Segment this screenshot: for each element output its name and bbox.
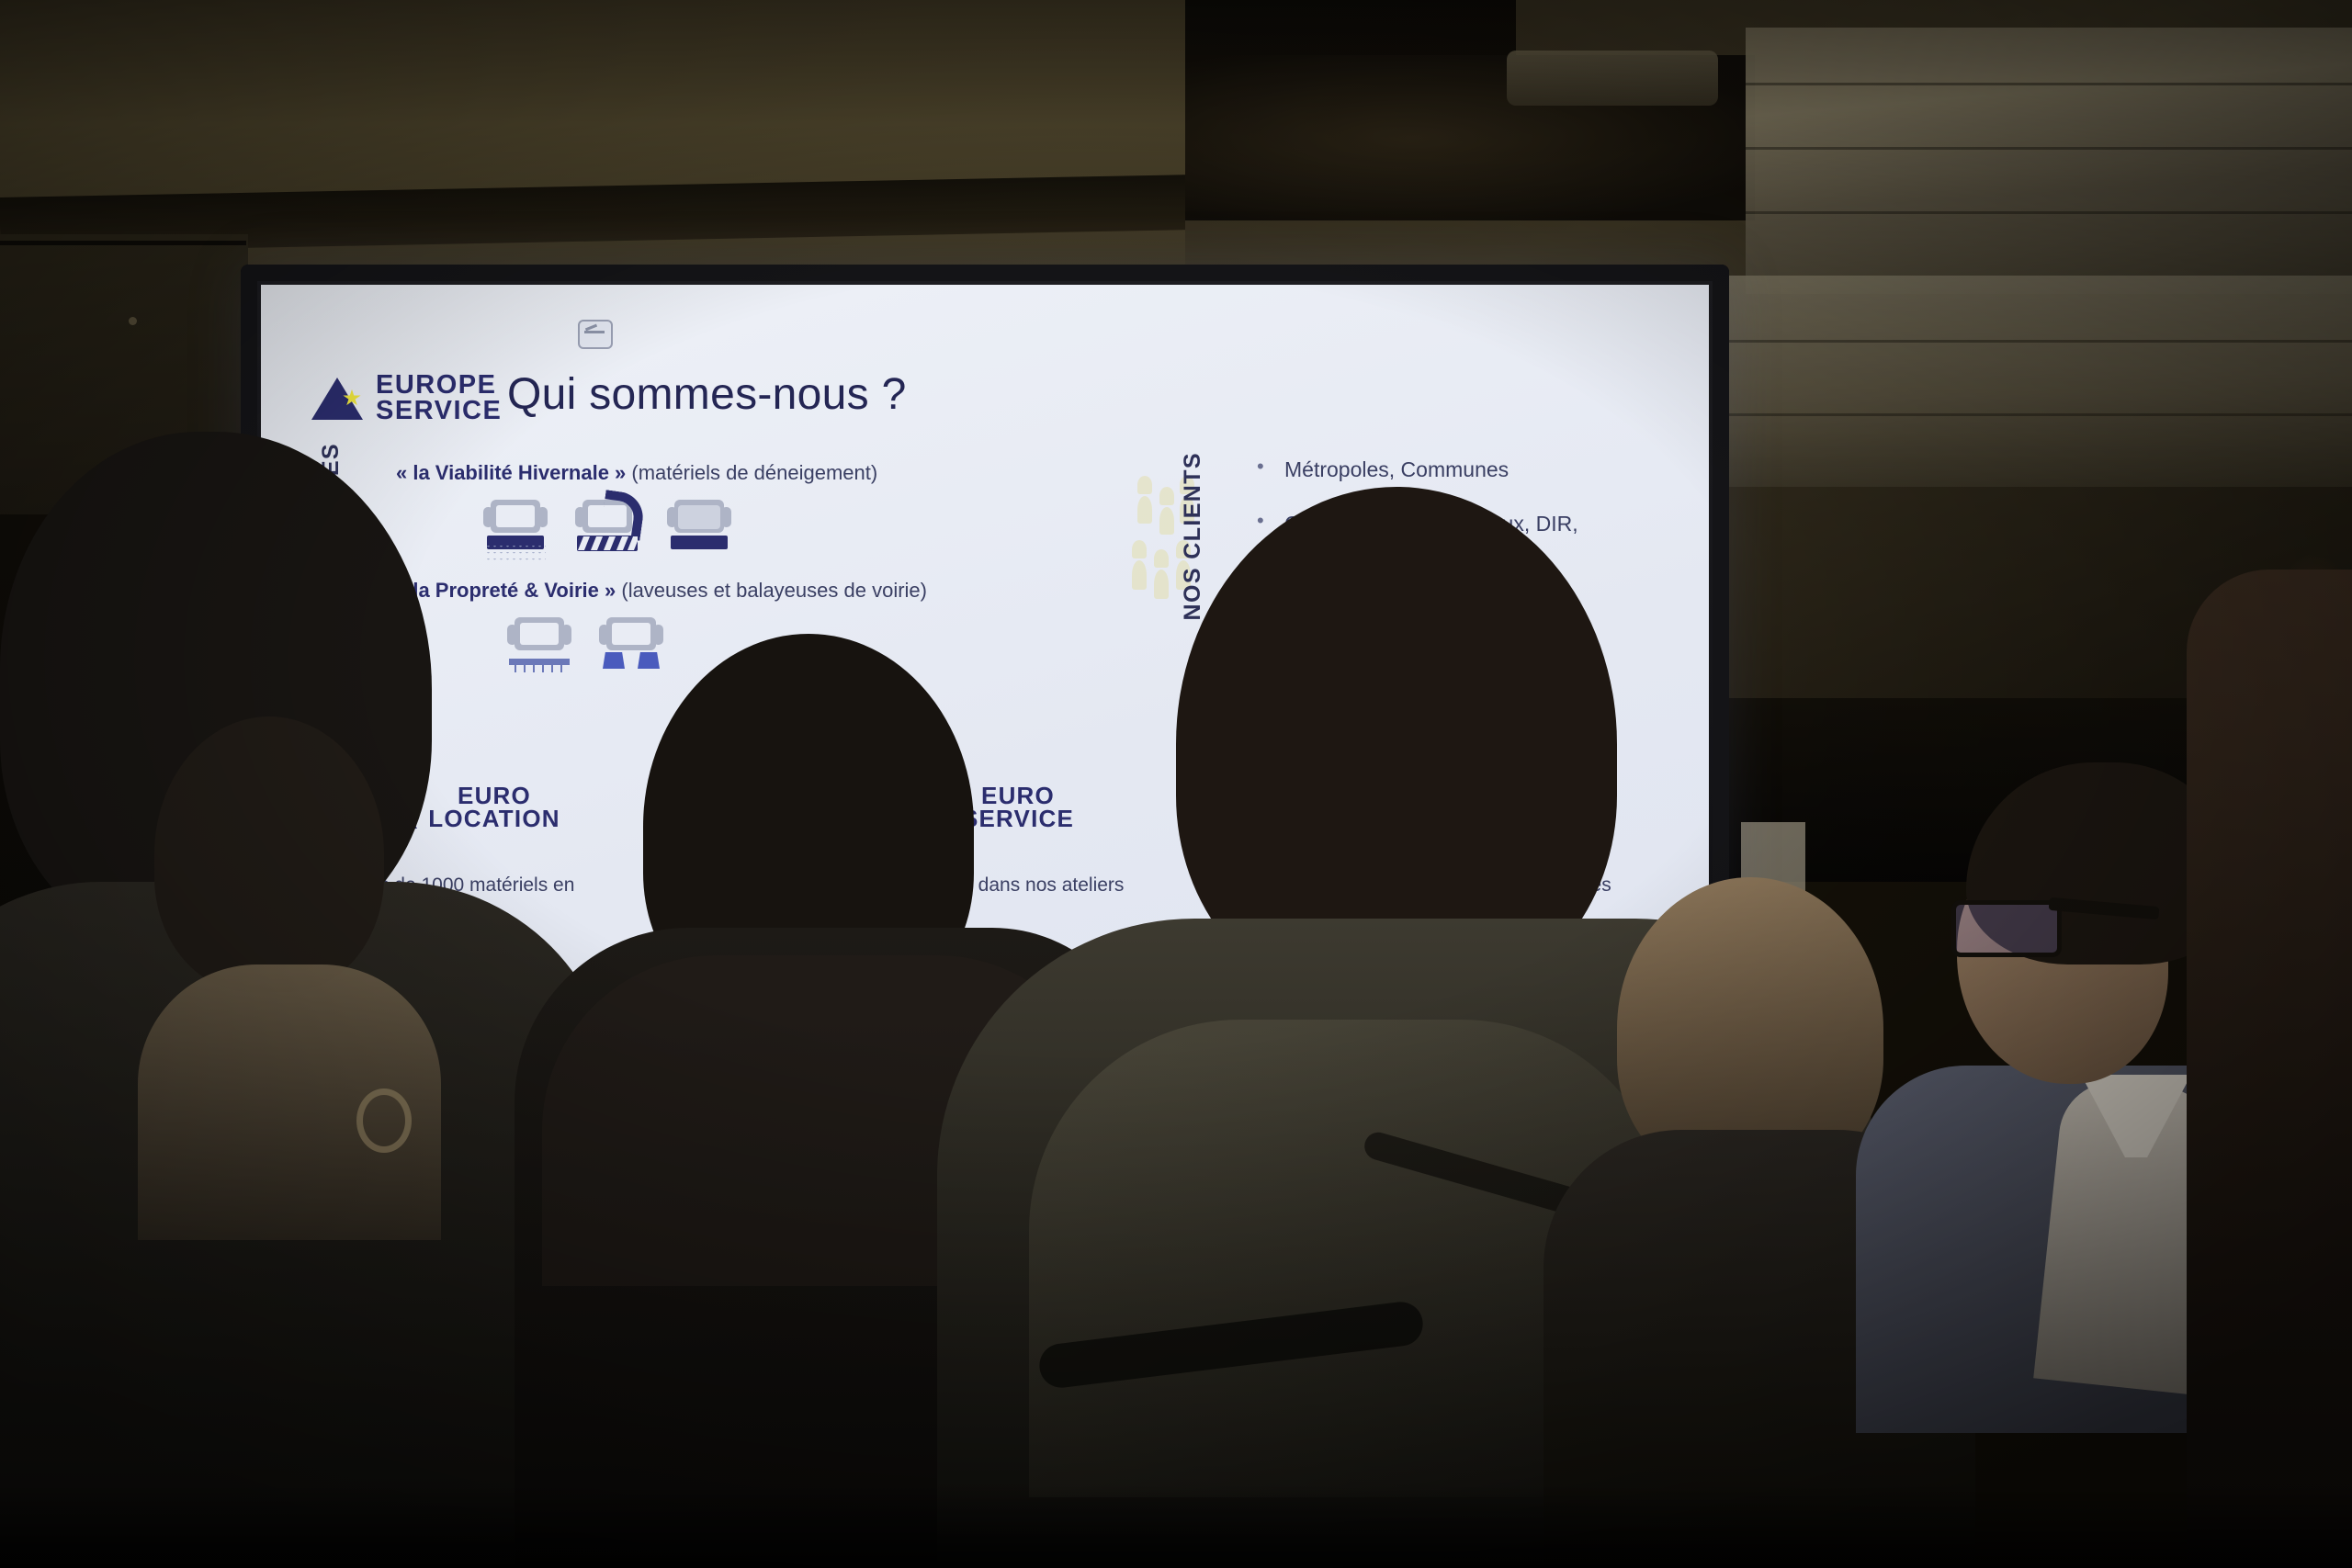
earring — [356, 1089, 412, 1153]
service-logo-line-2: SERVICE — [962, 807, 1074, 830]
metal-wall-slab-upper — [1746, 28, 2352, 294]
salt-spreader-icon — [483, 496, 548, 551]
pen-tablet-icon — [578, 320, 613, 349]
activity-line-2-rest: (laveuses et balayeuses de voirie) — [616, 579, 927, 602]
activity-line-2-quoted: « la Propreté & Voirie » — [396, 579, 616, 602]
silhouette-woman-blonde-hair — [154, 716, 384, 992]
snow-blower-icon — [575, 496, 639, 551]
service-logo-line-2: LOCATION — [428, 807, 560, 830]
slide-title: Qui sommes-nous ? — [507, 369, 907, 420]
street-sweeper-icon — [599, 614, 663, 669]
client-item: Métropoles, Communes — [1253, 457, 1578, 482]
winter-equipment-icons — [483, 496, 731, 551]
panel-edge-line — [0, 241, 246, 245]
europe-service-logo: EUROPE SERVICE — [311, 373, 502, 424]
mountain-star-logo-icon — [311, 378, 363, 420]
clients-vertical-label: NOS CLIENTS — [1180, 452, 1205, 620]
activity-line-1: « la Viabilité Hivernale » (matériels de… — [396, 461, 877, 485]
ceiling-pipe — [1507, 51, 1718, 106]
snow-plow-icon — [667, 496, 731, 551]
wall-fixture-dot — [129, 317, 137, 325]
foreground-shadow — [0, 1485, 2352, 1568]
conference-room-scene: EUROPE SERVICE Qui sommes-nous ? DOMAINE… — [0, 0, 2352, 1568]
activity-line-2: « la Propreté & Voirie » (laveuses et ba… — [396, 579, 927, 603]
eyeglasses — [1951, 900, 2062, 957]
activity-line-1-rest: (matériels de déneigement) — [626, 461, 877, 484]
logo-line-2: SERVICE — [376, 399, 502, 424]
cleaning-equipment-icons — [507, 614, 663, 669]
metal-wall-slab-lower — [1727, 276, 2352, 487]
logo-line-1: EUROPE — [376, 373, 502, 399]
silhouette-far-right — [2187, 570, 2352, 1568]
street-washer-icon — [507, 614, 571, 669]
activity-line-1-quoted: « la Viabilité Hivernale » — [396, 461, 626, 484]
